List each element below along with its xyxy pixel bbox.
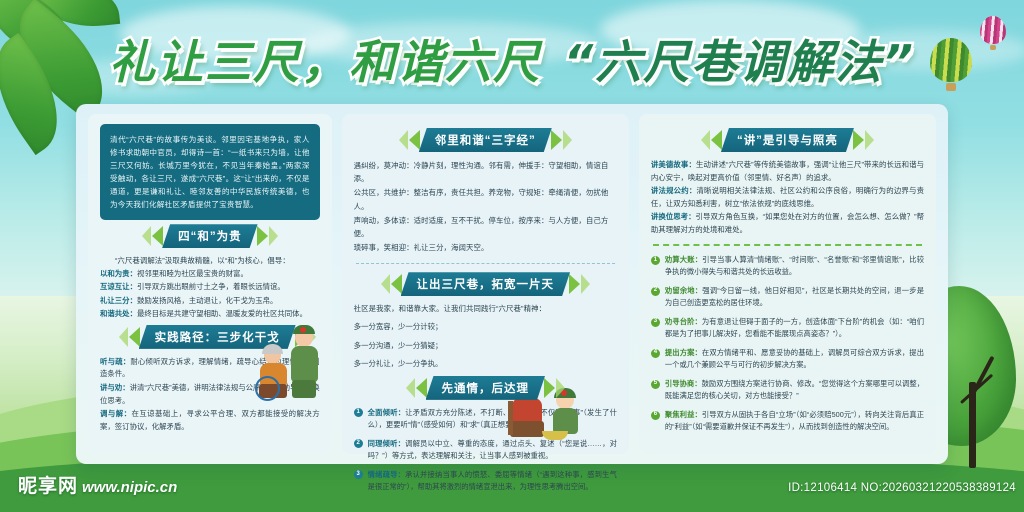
title-main: 礼让三尺，和谐六尺: [109, 26, 541, 92]
banner-emotion-first: 先通情，后达理: [406, 376, 566, 400]
banner-label: 让出三尺巷，拓宽一片天: [401, 272, 571, 296]
four-he-lead: “六尺巷调解法”汲取典故精髓，以“和”为核心，倡导：: [100, 255, 320, 267]
sanzijing-line: 遇纠纷，莫冲动：冷静片刻，理性沟通。邻有需，伸援手：守望相助，情谊自添。: [354, 159, 617, 185]
content-board: 清代“六尺巷”的故事传为美谈。邻里因宅基地争执，家人修书求助朝中官员，却得诗一首…: [76, 104, 948, 464]
column-left: 清代“六尺巷”的故事传为美谈。邻里因宅基地争执，家人修书求助朝中官员，却得诗一首…: [88, 114, 332, 454]
list-item: 4 提出方案：在双方情绪平和、愿意妥协的基础上，调解员可综合双方诉求，提出一个或…: [651, 347, 924, 371]
title-sub: “六尺巷调解法”: [564, 26, 915, 92]
chevron-left-icon: [391, 274, 402, 294]
sanzijing-line: 声响动，多体谅：适时适度，互不干扰。停车位，按序来：与人方便，自己方便。: [354, 214, 617, 240]
banner-label: 先通情，后达理: [426, 376, 546, 400]
illustration-elderly-care: [254, 326, 326, 402]
banner-label: 四“和”为贵: [162, 224, 258, 248]
sanzijing-lines: 遇纠纷，莫冲动：冷静片刻，理性沟通。邻有需，伸援手：守望相助，情谊自添。 公共区…: [354, 159, 617, 254]
list-item: 5 引导协商：鼓励双方围绕方案进行协商、修改。“您觉得这个方案哪里可以调整，既能…: [651, 378, 924, 402]
chevron-right-outer-icon: [269, 226, 278, 246]
jiang-definitions: 讲美德故事：生动讲述“六尺巷”等传统美德故事，强调“让他三尺”带来的长远和谐与内…: [651, 159, 924, 236]
chevron-right-icon: [853, 130, 864, 150]
list-item: 2 劝留余地：强调“今日留一线，他日好相见”，社区是长期共处的空间，退一步是为自…: [651, 285, 924, 309]
watermark-url: www.nipic.cn: [82, 479, 177, 496]
banner-four-he: 四“和”为贵: [142, 224, 278, 248]
definition-item: 讲换位思考：引导双方角色互换，“如果您处在对方的位置，会怎么想、怎么做？”帮助其…: [651, 211, 924, 236]
column-right: “讲”是引导与照亮 讲美德故事：生动讲述“六尺巷”等传统美德故事，强调“让他三尺…: [639, 114, 936, 454]
divider-dashed-green: [653, 244, 922, 246]
item-number: 6: [651, 411, 660, 420]
list-item: 2 同理倾听：调解员以中立、尊重的态度，通过点头、复述（“您是说……，对吗？”）…: [354, 438, 617, 462]
chevron-right-outer-icon: [563, 130, 572, 150]
tree-trunk: [969, 382, 976, 468]
chevron-right-outer-icon: [581, 274, 590, 294]
definition-item: 以和为贵：视邻里和睦为社区最宝贵的财富。: [100, 268, 320, 281]
chevron-right-icon: [257, 226, 268, 246]
slogan-item: 多一分礼让，少一分争执。: [354, 358, 504, 369]
chevron-left-outer-icon: [142, 226, 151, 246]
chevron-right-icon: [551, 130, 562, 150]
item-number: 2: [651, 287, 660, 296]
item-number: 3: [651, 318, 660, 327]
list-item: 3 劝寻台阶：为有意退让但碍于面子的一方，创造体面“下台阶”的机会（如：“咱们都…: [651, 316, 924, 340]
chevron-left-outer-icon: [399, 130, 408, 150]
slogan-item: 多一分宽容，少一分计较；: [354, 321, 504, 332]
item-number: 1: [651, 256, 660, 265]
chevron-right-outer-icon: [556, 378, 565, 398]
slogan-item: 多一分沟通，少一分猜疑；: [354, 340, 504, 351]
definition-item: 互谅互让：引导双方跳出眼前寸土之争，着眼长远情谊。: [100, 281, 320, 294]
image-id-line: ID:12106414 NO:20260321220538389124: [788, 482, 1016, 494]
list-item: 6 聚焦利益：引导双方从固执于各自“立场”（如“必须赔500元”），转向关注背后…: [651, 409, 924, 433]
watermark: 昵享网 www.nipic.cn: [18, 471, 177, 498]
banner-label: “讲”是引导与照亮: [721, 128, 854, 152]
item-number: 2: [354, 439, 363, 448]
sanzijing-line: 琐碎事，笑相迎：礼让三分，海阔天空。: [354, 241, 617, 254]
chevron-right-icon: [569, 274, 580, 294]
wheelchair-wheel-icon: [255, 376, 280, 401]
banner-jiang: “讲”是引导与照亮: [701, 128, 874, 152]
definition-item: 调与解：在互谅基础上，寻求公平合理、双方都能接受的解决方案，签订协议，化解矛盾。: [100, 408, 320, 433]
slogan-list: 多一分宽容，少一分计较； 多一分沟通，少一分猜疑； 多一分礼让，少一分争执。: [354, 321, 504, 368]
persuasion-steps-list: 1 劝算大账：引导当事人算清“情绪账”、“时间账”、“名誉账”和“邻里情谊账”，…: [651, 254, 924, 432]
divider-dashed: [356, 263, 615, 264]
column-middle: 邻里和谐“三字经” 遇纠纷，莫冲动：冷静片刻，理性沟通。邻有需，伸援手：守望相助…: [342, 114, 629, 454]
chevron-left-icon: [129, 327, 140, 347]
four-he-definitions: 以和为贵：视邻里和睦为社区最宝贵的财富。 互谅互让：引导双方跳出眼前寸土之争，着…: [100, 268, 320, 321]
item-number: 1: [354, 408, 363, 417]
chevron-right-outer-icon: [865, 130, 874, 150]
definition-item: 和谐共处：最终目标是共建守望相助、温暖友爱的社区共同体。: [100, 308, 320, 321]
item-number: 5: [651, 380, 660, 389]
item-number: 3: [354, 470, 363, 479]
poster-title: 礼让三尺，和谐六尺 “六尺巷调解法”: [0, 26, 1024, 98]
chevron-left-outer-icon: [381, 274, 390, 294]
list-item: 1 劝算大账：引导当事人算清“情绪账”、“时间账”、“名誉账”和“邻里情谊账”，…: [651, 254, 924, 278]
banner-label: 邻里和谐“三字经”: [419, 128, 552, 152]
chevron-left-outer-icon: [701, 130, 710, 150]
definition-item: 讲法规公约：清晰说明相关法律法规、社区公约和公序良俗，明确行为的边界与责任，让双…: [651, 185, 924, 210]
chevron-right-icon: [544, 378, 555, 398]
chevron-left-outer-icon: [119, 327, 128, 347]
chevron-left-icon: [152, 226, 163, 246]
definition-item: 礼让三分：鼓励发扬风格，主动退让，化干戈为玉帛。: [100, 295, 320, 308]
chevron-left-outer-icon: [406, 378, 415, 398]
let-out-lead: 社区是我家，和谐靠大家。让我们共同践行“六尺巷”精神：: [354, 303, 617, 315]
chevron-left-icon: [409, 130, 420, 150]
sanzijing-line: 公共区，共维护：整洁有序，责任共担。养宠物，守规矩：牵绳清便，勿扰他人。: [354, 186, 617, 212]
banner-let-out: 让出三尺巷，拓宽一片天: [381, 272, 591, 296]
item-number: 4: [651, 349, 660, 358]
chevron-left-icon: [416, 378, 427, 398]
definition-item: 讲美德故事：生动讲述“六尺巷”等传统美德故事，强调“让他三尺”带来的长远和谐与内…: [651, 159, 924, 184]
watermark-site-name: 昵享网: [18, 471, 78, 498]
list-item: 3 情绪疏导：承认并接纳当事人的愤怒、委屈等情绪（“遇到这种事，感到生气是很正常…: [354, 469, 617, 493]
intro-story-box: 清代“六尺巷”的故事传为美谈。邻里因宅基地争执，家人修书求助朝中官员，却得诗一首…: [100, 124, 320, 220]
chevron-left-icon: [711, 130, 722, 150]
banner-sanzijing: 邻里和谐“三字经”: [399, 128, 572, 152]
